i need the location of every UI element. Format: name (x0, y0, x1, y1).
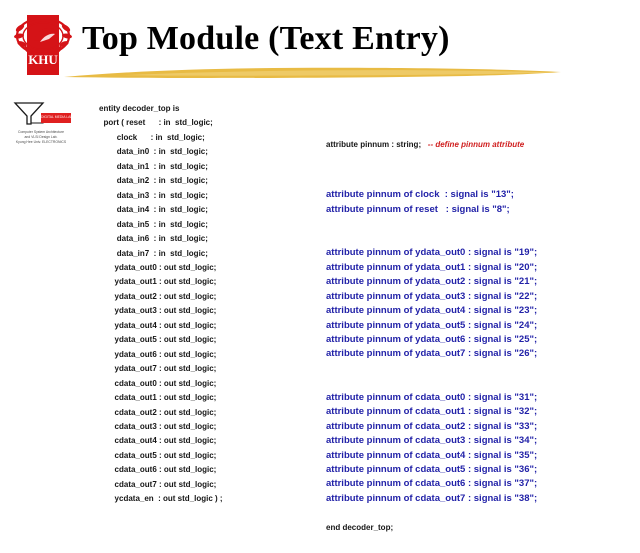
code-line: data_in6 : in std_logic; (99, 232, 223, 246)
code-line: ydata_out1 : out std_logic; (99, 275, 223, 289)
code-line: cdata_out0 : out std_logic; (99, 377, 223, 391)
code-line: cdata_out4 : out std_logic; (99, 434, 223, 448)
code-line: data_in7 : in std_logic; (99, 247, 223, 261)
code-line: data_in2 : in std_logic; (99, 174, 223, 188)
code-line: attribute pinnum of cdata_out5 : signal … (326, 463, 537, 477)
code-line: attribute pinnum of cdata_out7 : signal … (326, 492, 537, 506)
code-line: cdata_out5 : out std_logic; (99, 449, 223, 463)
lab-caption-line3: Kyung Hee Univ. ELECTRONICS (8, 140, 74, 145)
code-blank-line (326, 506, 537, 520)
khu-wreath-icon (14, 16, 72, 56)
code-line: data_in1 : in std_logic; (99, 160, 223, 174)
code-line: ydata_out3 : out std_logic; (99, 304, 223, 318)
code-line: attribute pinnum of ydata_out6 : signal … (326, 333, 537, 347)
code-line: ydata_out0 : out std_logic; (99, 261, 223, 275)
code-line: clock : in std_logic; (99, 131, 223, 145)
code-line: attribute pinnum of ydata_out4 : signal … (326, 304, 537, 318)
page-title: Top Module (Text Entry) (82, 20, 450, 58)
code-line: attribute pinnum of cdata_out0 : signal … (326, 391, 537, 405)
code-line: data_in4 : in std_logic; (99, 203, 223, 217)
code-line: port ( reset : in std_logic; (99, 116, 223, 130)
lab-caption: Computer System Architecture and VLSI De… (8, 130, 74, 145)
code-line: attribute pinnum of cdata_out1 : signal … (326, 405, 537, 419)
lab-logo: DIGITAL MEDIA LAB Computer System Archit… (8, 100, 74, 150)
code-line: cdata_out2 : out std_logic; (99, 406, 223, 420)
code-line: cdata_out6 : out std_logic; (99, 463, 223, 477)
code-blank-line (326, 376, 537, 390)
code-line: attribute pinnum of clock : signal is "1… (326, 188, 537, 202)
code-line: attribute pinnum of ydata_out2 : signal … (326, 275, 537, 289)
code-line: data_in5 : in std_logic; (99, 218, 223, 232)
code-line: attribute pinnum of reset : signal is "8… (326, 203, 537, 217)
slide-header: KHU Top Module (Text Entry) (0, 0, 640, 92)
attribute-declaration-code: attribute pinnum : string; (326, 140, 421, 149)
code-line: data_in3 : in std_logic; (99, 189, 223, 203)
code-line: data_in0 : in std_logic; (99, 145, 223, 159)
code-line: attribute pinnum of ydata_out0 : signal … (326, 246, 537, 260)
code-line: ydata_out7 : out std_logic; (99, 362, 223, 376)
code-line: ydata_out4 : out std_logic; (99, 319, 223, 333)
code-line: attribute pinnum of cdata_out3 : signal … (326, 434, 537, 448)
code-line: cdata_out1 : out std_logic; (99, 391, 223, 405)
code-line: attribute pinnum of ydata_out7 : signal … (326, 347, 537, 361)
code-line: ydata_out6 : out std_logic; (99, 348, 223, 362)
khu-logo-label: KHU (27, 53, 59, 67)
code-line: end decoder_top; (326, 521, 537, 535)
code-blank-line (326, 362, 537, 376)
code-line: entity decoder_top is (99, 102, 223, 116)
code-line: ycdata_en : out std_logic ) ; (99, 492, 223, 506)
code-line: cdata_out3 : out std_logic; (99, 420, 223, 434)
gold-underline-swoosh (62, 66, 562, 79)
code-blank-line (326, 232, 537, 246)
code-line: ydata_out5 : out std_logic; (99, 333, 223, 347)
attribute-declaration-comment: -- define pinnum attribute (428, 140, 524, 149)
lab-badge-label: DIGITAL MEDIA LAB (41, 114, 71, 121)
vhdl-entity-declaration: entity decoder_top is port ( reset : in … (99, 102, 223, 507)
attribute-declaration-line: attribute pinnum : string; -- define pin… (326, 138, 537, 152)
vhdl-pinnum-attributes: attribute pinnum : string; -- define pin… (326, 102, 537, 553)
code-blank-line (326, 217, 537, 231)
code-line: ydata_out2 : out std_logic; (99, 290, 223, 304)
code-line: attribute pinnum of cdata_out4 : signal … (326, 449, 537, 463)
code-line: attribute pinnum of ydata_out1 : signal … (326, 261, 537, 275)
code-line: attribute pinnum of cdata_out2 : signal … (326, 420, 537, 434)
code-line: attribute pinnum of ydata_out5 : signal … (326, 319, 537, 333)
code-line: attribute pinnum of ydata_out3 : signal … (326, 290, 537, 304)
